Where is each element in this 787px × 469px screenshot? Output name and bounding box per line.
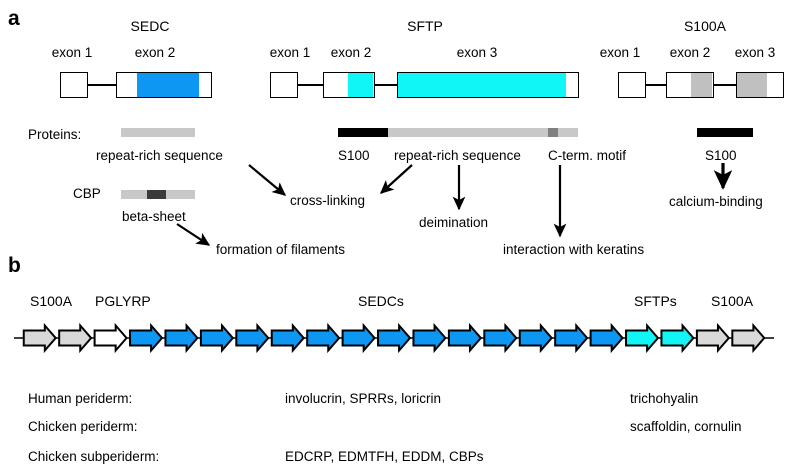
- gene-arrow-sedc-3[interactable]: [130, 326, 162, 351]
- gene-title-sftp: SFTP: [370, 18, 480, 34]
- protein-bar-sftp: [338, 128, 578, 137]
- gene-arrow-sedc-9[interactable]: [343, 326, 375, 351]
- gene-arrow-sedc-16[interactable]: [591, 326, 623, 351]
- sedc-exon2-cds: [137, 73, 199, 97]
- sftp-intron-2: [375, 84, 397, 86]
- protein-bar-cbp: [121, 190, 195, 199]
- sftp-tail-seg: [558, 128, 578, 137]
- cbp-beta-sheet-label: beta-sheet: [122, 209, 186, 224]
- gene-arrow-s100a-19[interactable]: [697, 326, 729, 351]
- function-calcium-binding-label: calcium-binding: [669, 194, 763, 209]
- arrow-sftp-to-cross-linking: [381, 165, 412, 193]
- table-row-2-label: Chicken subperiderm:: [28, 449, 159, 464]
- table-row-1-label: Chicken periderm:: [28, 419, 138, 434]
- sftp-exon-2-label: exon 2: [311, 45, 391, 60]
- gene-arrow-sedc-7[interactable]: [272, 326, 304, 351]
- gene-arrow-s100a-1[interactable]: [59, 326, 91, 351]
- sftp-exon3-box: [397, 72, 579, 98]
- s100a-s100-label: S100: [705, 148, 737, 163]
- s100a-exon1-box: [618, 72, 646, 98]
- sedc-exon1-box: [60, 72, 88, 98]
- s100a-intron-2: [714, 84, 736, 86]
- panel-b-letter: b: [8, 255, 21, 276]
- sftp-exon2-box: [323, 72, 375, 98]
- s100a-exon2-utr5: [667, 73, 691, 97]
- gene-arrow-sftp-17[interactable]: [626, 326, 658, 351]
- panel-a-letter: a: [8, 8, 20, 29]
- sedc-exon-1-label: exon 1: [27, 45, 117, 60]
- panelb-cluster-label-sftps: SFTPs: [634, 293, 677, 309]
- sftp-exon3-cds: [398, 73, 566, 97]
- gene-arrow-sedc-12[interactable]: [449, 326, 481, 351]
- sftp-repeat-rich-seg: [388, 128, 548, 137]
- sedc-exon2-utr5: [117, 73, 137, 97]
- gene-arrow-sedc-4[interactable]: [165, 326, 197, 351]
- cbp-name-label: CBP: [73, 186, 101, 201]
- sedc-exon-2-label: exon 2: [110, 45, 200, 60]
- gene-arrow-s100a-0[interactable]: [24, 326, 56, 351]
- s100a-exon-3-label: exon 3: [715, 45, 787, 60]
- gene-arrow-sedc-8[interactable]: [307, 326, 339, 351]
- sftp-intron-1: [298, 84, 323, 86]
- panelb-cluster-label-pglyrp: PGLYRP: [95, 293, 151, 309]
- gene-cluster-track: [14, 318, 774, 358]
- function-interaction-with-keratins-label: interaction with keratins: [503, 242, 644, 257]
- protein-bar-sedc: [121, 128, 195, 137]
- proteins-label: Proteins:: [28, 127, 81, 142]
- table-row-0-right: trichohyalin: [630, 391, 698, 406]
- table-row-1-right: scaffoldin, cornulin: [630, 419, 742, 434]
- function-deimination-label: deimination: [419, 215, 488, 230]
- panelb-cluster-label-sedcs: SEDCs: [358, 293, 404, 309]
- gene-title-s100a: S100A: [650, 18, 760, 34]
- gene-arrows-svg: [14, 318, 774, 358]
- gene-arrow-sedc-14[interactable]: [520, 326, 552, 351]
- sftp-s100-seg: [338, 128, 388, 137]
- s100a-s100-seg: [697, 128, 753, 137]
- sftp-exon2-utr5: [324, 73, 348, 97]
- gene-title-sedc: SEDC: [95, 18, 205, 34]
- sftp-s100-label: S100: [338, 148, 370, 163]
- panelb-cluster-label-s100a-right: S100A: [711, 293, 753, 309]
- arrow-cbp-to-filaments: [177, 224, 209, 245]
- sftp-exon2-cds: [348, 73, 373, 97]
- s100a-exon3-box: [736, 72, 784, 98]
- table-row-0-label: Human periderm:: [28, 391, 132, 406]
- panelb-cluster-label-s100a-left: S100A: [30, 293, 72, 309]
- gene-arrow-sedc-13[interactable]: [484, 326, 516, 351]
- s100a-exon2-box: [666, 72, 714, 98]
- s100a-exon-1-label: exon 1: [580, 45, 660, 60]
- gene-arrow-sedc-15[interactable]: [555, 326, 587, 351]
- sedc-exon2-box: [116, 72, 212, 98]
- gene-arrow-sedc-6[interactable]: [236, 326, 268, 351]
- sedc-repeat-rich-label: repeat-rich sequence: [96, 148, 223, 163]
- gene-arrow-sftp-18[interactable]: [661, 326, 693, 351]
- function-formation-of-filaments-label: formation of filaments: [216, 242, 345, 257]
- arrow-sedc-to-cross-linking: [249, 165, 285, 195]
- sftp-repeat-rich-label: repeat-rich sequence: [394, 148, 521, 163]
- s100a-exon2-cds: [691, 73, 712, 97]
- sftp-exon-3-label: exon 3: [412, 45, 542, 60]
- sedc-intron-1: [88, 84, 116, 86]
- cbp-beta-sheet-seg: [147, 190, 166, 199]
- gene-arrow-sedc-5[interactable]: [201, 326, 233, 351]
- s100a-exon3-utr3: [767, 73, 782, 97]
- table-row-2-middle: EDCRP, EDMTFH, EDDM, CBPs: [285, 449, 484, 464]
- function-cross-linking-label: cross-linking: [290, 193, 365, 208]
- s100a-intron-1: [646, 84, 666, 86]
- cbp-c-term-seg: [166, 190, 195, 199]
- sftp-cterm-motif-seg: [548, 128, 558, 137]
- sftp-exon1-box: [270, 72, 298, 98]
- sftp-cterm-motif-label: C-term. motif: [548, 148, 626, 163]
- sedc-repeat-rich-seg: [121, 128, 195, 137]
- gene-arrow-s100a-20[interactable]: [732, 326, 764, 351]
- gene-arrow-sedc-11[interactable]: [413, 326, 445, 351]
- sedc-exon2-utr3: [117, 97, 131, 98]
- gene-arrow-pglyrp-2[interactable]: [95, 326, 127, 351]
- cbp-n-term-seg: [121, 190, 147, 199]
- sftp-exon3-utr3: [566, 73, 577, 97]
- protein-bar-s100a: [697, 128, 753, 137]
- s100a-exon3-cds: [737, 73, 767, 97]
- figure-root: a SEDC SFTP S100A exon 1 exon 2 exon 1 e…: [0, 0, 787, 469]
- table-row-0-middle: involucrin, SPRRs, loricrin: [285, 391, 441, 406]
- gene-arrow-sedc-10[interactable]: [378, 326, 410, 351]
